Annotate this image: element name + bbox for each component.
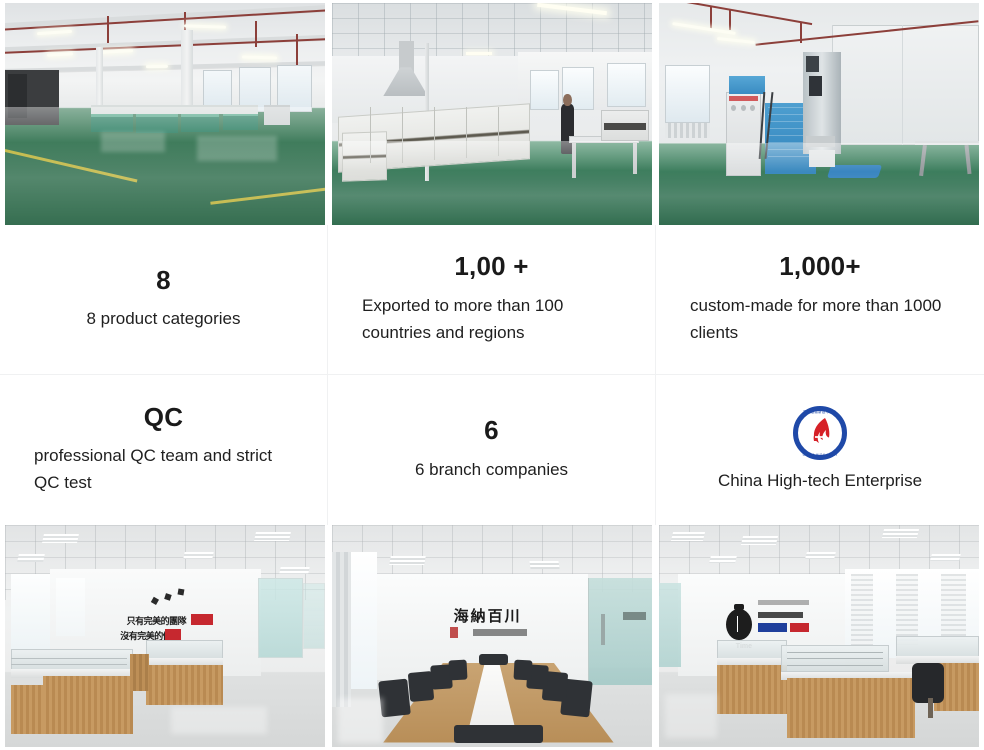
chair [448,660,467,681]
ceiling-lamp [466,52,492,55]
stopwatch-crown [734,604,744,611]
chair [514,660,533,681]
calligraphy-seal [450,627,458,638]
wall-graphic-subtext [758,600,809,604]
cabinet-indicator [729,96,758,100]
glass-wall [588,578,652,685]
photo-office-cubicles[interactable]: 只有完美的團隊 沒有完美的個人 [5,525,325,747]
floor-reflection [338,698,383,742]
stat-cell-export-countries: 1,00 + Exported to more than 100 countri… [328,225,656,375]
calligraphy-subtext [473,629,527,636]
blue-unit-top [729,76,764,94]
photo-reflow-oven-line[interactable] [332,3,652,225]
sprinkler-drop [296,34,298,65]
ceiling-light [254,532,291,541]
cubicle-panel [787,678,915,738]
stat-value: 1,00 + [362,252,621,281]
floor-reflection [101,132,165,152]
floor-gloss [332,141,652,225]
machine-slot [604,123,646,130]
chair-leg [928,698,933,718]
ceiling-light [389,556,426,565]
stat-label: China High-tech Enterprise [718,468,922,495]
cubicle-panel [146,665,223,705]
floor-reflection [665,694,716,738]
equipment-room-scene [659,3,979,225]
ceiling-light [671,532,705,541]
glass-wall-text [623,612,645,621]
stat-cell-qc-team: QC professional QC team and strict QC te… [0,375,328,525]
support-column [96,47,103,107]
stat-value: 1,000+ [690,252,950,281]
partition-rail [787,658,883,659]
flame-icon [806,416,834,448]
ceiling-light [183,552,213,559]
photo-row-bottom: 只有完美的團隊 沒有完美的個人 [0,525,984,750]
cubicle-partition [896,636,979,658]
photo-testing-equipment-room[interactable] [659,3,979,225]
open-office-scene: Time [659,525,979,747]
window [56,578,85,636]
radiator [665,123,710,139]
floor-gloss [659,143,979,225]
glass-door [659,583,681,667]
stat-cell-high-tech-certification: 国家级高新技术企业 CHINA HIGH-TECH China High-tec… [656,375,984,525]
chair [454,725,544,743]
door-handle [601,614,605,645]
stopwatch-icon [726,609,752,640]
window-blinds [896,574,918,645]
photo-production-workshop[interactable] [5,3,325,225]
wall-graphic-accent [165,629,181,640]
wall-graphic-line [758,612,803,619]
curtain [332,552,351,707]
panel-seam [902,25,903,145]
partition-rail [11,658,126,659]
stat-value: 6 [362,416,621,445]
floor-reflection [171,707,267,734]
workshop-scene [5,3,325,225]
floor-reflection [197,136,277,160]
stat-label: professional QC team and strict QC test [34,443,293,497]
window [665,65,710,123]
ceiling-lamp [717,37,755,44]
ceiling-light [882,529,919,538]
sprinkler-pipe [685,3,811,25]
wall-graphic-line1: 只有完美的團隊 [127,614,187,627]
gantry-head [806,56,819,72]
ceiling-light [930,554,960,561]
logo-micro-text-bottom: CHINA HIGH-TECH [793,453,847,457]
sprinkler-drop [729,10,731,30]
stat-value: 8 [34,266,293,295]
office-chair [912,663,944,703]
wall-calligraphy: 海納百川 [454,605,522,626]
page-root: 8 8 product categories 1,00 + Exported t… [0,0,984,750]
partition-rail [11,664,126,665]
glass-partition [303,583,325,650]
chair [479,654,508,665]
cubicle-panel [11,685,43,734]
gantry-motor [809,76,822,96]
office-cubicles-scene: 只有完美的團隊 沒有完美的個人 [5,525,325,747]
wall-graphic-accent [758,623,787,632]
reflow-oven-scene [332,3,652,225]
conference-room-scene: 海納百川 [332,525,652,747]
ceiling-light [741,536,778,545]
cabinet-knob [741,105,746,111]
sprinkler-drop [255,21,257,48]
stat-label: 8 product categories [34,306,293,333]
window [607,63,645,107]
glass-partition [258,578,303,658]
stats-grid: 8 8 product categories 1,00 + Exported t… [0,225,984,525]
stopwatch-hand [737,616,738,632]
worker-head [563,94,571,106]
ceiling-light [42,534,79,543]
support-column [181,30,193,108]
cubicle-panel [717,665,787,714]
stat-label: 6 branch companies [362,457,621,484]
cubicle-panel [43,676,133,734]
cubicle-partition [11,649,133,671]
sprinkler-drop [107,16,109,43]
window-blinds [851,574,873,649]
window-blinds [941,574,967,641]
wall-graphic-accent [191,614,213,625]
photo-open-office[interactable]: Time [659,525,979,747]
floor-gloss [5,107,325,225]
sprinkler-drop [800,23,802,43]
ceiling-lamp [146,65,168,68]
sprinkler-drop [710,7,712,29]
stat-value: QC [34,403,293,432]
ceiling-light [279,567,309,574]
partition-rail [787,652,883,653]
window [530,70,559,110]
ceiling-light [805,552,835,559]
stat-cell-branch-companies: 6 6 branch companies [328,375,656,525]
photo-conference-room[interactable]: 海納百川 [332,525,652,747]
ceiling-light [530,561,560,569]
ceiling-light [17,554,44,562]
logo-micro-text-top: 国家级高新技术企业 [793,409,847,414]
stat-label: custom-made for more than 1000 clients [690,293,950,347]
stat-cell-product-categories: 8 8 product categories [0,225,328,375]
ceiling-lamp [672,22,736,35]
panel-wall [832,25,979,145]
wall-graphic-accent [790,623,809,632]
cabinet-knob [731,105,736,111]
stat-label: Exported to more than 100 countries and … [362,293,621,347]
partition-rail [787,665,883,666]
window [11,574,49,649]
stat-cell-custom-clients: 1,000+ custom-made for more than 1000 cl… [656,225,984,375]
china-high-tech-enterprise-logo: 国家级高新技术企业 CHINA HIGH-TECH [793,406,847,460]
ceiling-light [709,556,736,563]
photo-row-top [0,0,984,225]
cubicle-panel [130,654,149,692]
